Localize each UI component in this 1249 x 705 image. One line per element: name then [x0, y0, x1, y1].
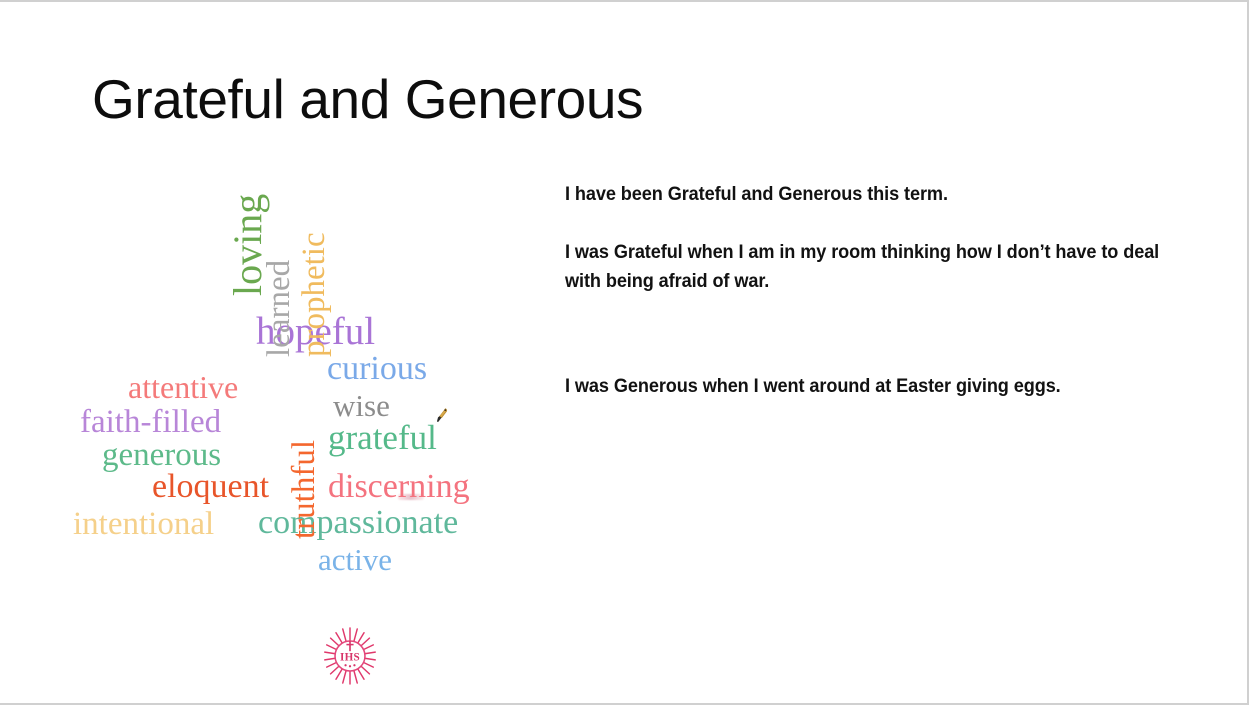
- word-cloud-word: wise: [333, 390, 390, 421]
- word-cloud-word: faith-filled: [80, 406, 221, 439]
- word-cloud-word: intentional: [73, 508, 214, 541]
- word-cloud-image: lovinghopefulcuriousattentivelearnedprop…: [60, 242, 520, 692]
- word-cloud-word: learned: [263, 260, 296, 357]
- body-paragraph-1: I have been Grateful and Generous this t…: [565, 180, 1160, 208]
- bird-icon: [432, 406, 450, 426]
- word-cloud-word: prophetic: [298, 232, 331, 357]
- word-cloud-word: active: [318, 544, 392, 575]
- word-cloud-word: grateful: [328, 420, 437, 455]
- word-cloud-word: eloquent: [152, 470, 269, 504]
- presentation-slide: Grateful and Generous lovinghopefulcurio…: [0, 0, 1249, 705]
- word-cloud-word: attentive: [128, 371, 238, 403]
- body-text-block: I have been Grateful and Generous this t…: [565, 180, 1205, 431]
- word-cloud-word: truthful: [288, 440, 321, 539]
- word-cloud-word: discerning: [328, 470, 470, 504]
- word-cloud-word: curious: [327, 352, 427, 386]
- ihs-emblem: IHS: [321, 626, 379, 686]
- page-title: Grateful and Generous: [92, 70, 643, 129]
- body-paragraph-2: I was Grateful when I am in my room thin…: [565, 238, 1160, 295]
- body-paragraph-3: I was Generous when I went around at Eas…: [565, 372, 1160, 400]
- svg-text:IHS: IHS: [340, 651, 360, 663]
